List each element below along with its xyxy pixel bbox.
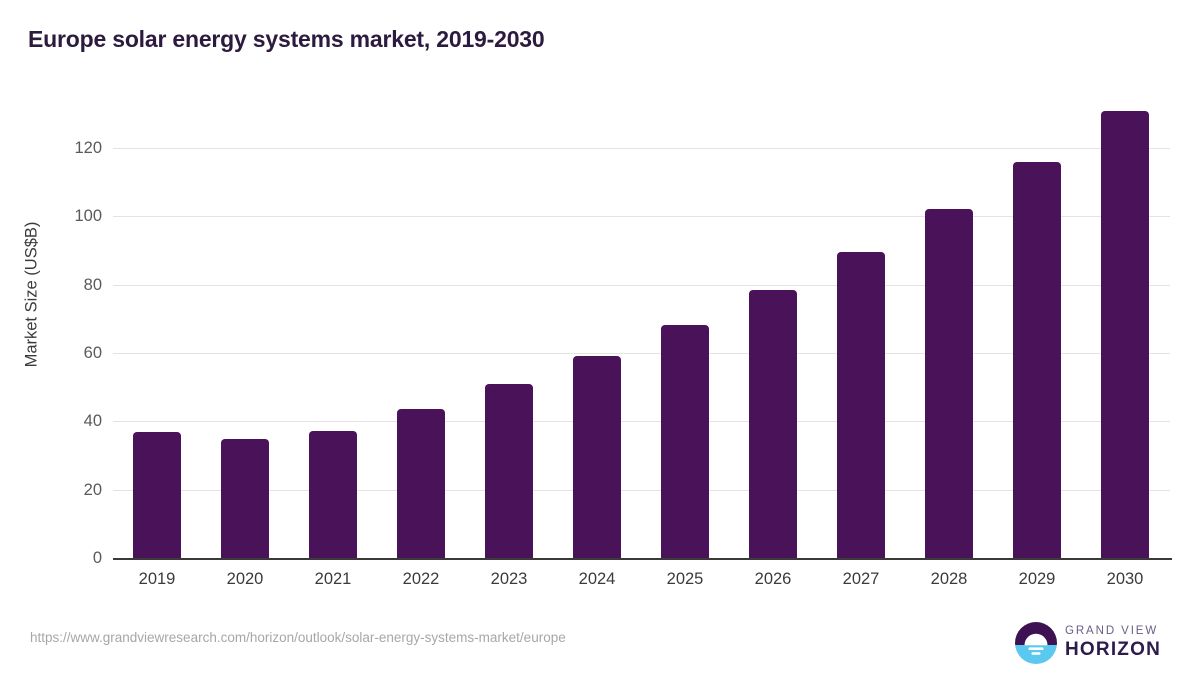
horizon-sun-icon <box>1015 622 1057 664</box>
bar[interactable] <box>397 409 445 558</box>
y-axis-tick-label: 0 <box>42 549 102 568</box>
x-axis-tick-label: 2026 <box>729 570 817 589</box>
x-axis-tick-label: 2022 <box>377 570 465 589</box>
gridline <box>113 490 1170 491</box>
y-axis-tick-label: 60 <box>42 344 102 363</box>
bar[interactable] <box>749 290 797 558</box>
bar[interactable] <box>1013 162 1061 558</box>
gridline <box>113 353 1170 354</box>
x-axis-tick-label: 2021 <box>289 570 377 589</box>
x-axis-tick-label: 2030 <box>1081 570 1169 589</box>
x-axis-tick-label: 2019 <box>113 570 201 589</box>
bar[interactable] <box>309 431 357 558</box>
bar[interactable] <box>1101 111 1149 558</box>
bar[interactable] <box>661 325 709 558</box>
x-axis-tick-label: 2024 <box>553 570 641 589</box>
x-axis-line <box>113 558 1172 560</box>
bar[interactable] <box>133 432 181 558</box>
brand-logo-line1: GRAND VIEW <box>1065 624 1161 639</box>
x-axis-tick-label: 2027 <box>817 570 905 589</box>
chart-page: Europe solar energy systems market, 2019… <box>0 0 1200 675</box>
y-axis-title: Market Size (US$B) <box>23 145 42 445</box>
brand-logo-text: GRAND VIEW HORIZON <box>1065 624 1161 660</box>
chart-plot-area: Market Size (US$B) 020406080100120 20192… <box>0 0 1200 675</box>
bar[interactable] <box>485 384 533 558</box>
y-axis-tick-label: 80 <box>42 276 102 295</box>
bar[interactable] <box>837 252 885 558</box>
gridline <box>113 285 1170 286</box>
y-axis-tick-label: 100 <box>42 207 102 226</box>
gridline <box>113 148 1170 149</box>
source-url[interactable]: https://www.grandviewresearch.com/horizo… <box>30 630 566 645</box>
bar[interactable] <box>573 356 621 558</box>
brand-logo: GRAND VIEW HORIZON <box>1015 620 1175 666</box>
x-axis-tick-label: 2029 <box>993 570 1081 589</box>
x-axis-tick-label: 2023 <box>465 570 553 589</box>
x-axis-tick-label: 2025 <box>641 570 729 589</box>
gridline <box>113 216 1170 217</box>
gridline <box>113 421 1170 422</box>
x-axis-tick-label: 2028 <box>905 570 993 589</box>
bar[interactable] <box>925 209 973 558</box>
bar[interactable] <box>221 439 269 558</box>
x-axis-tick-label: 2020 <box>201 570 289 589</box>
brand-logo-line2: HORIZON <box>1065 639 1161 660</box>
y-axis-tick-label: 120 <box>42 139 102 158</box>
y-axis-tick-label: 20 <box>42 481 102 500</box>
y-axis-tick-label: 40 <box>42 412 102 431</box>
